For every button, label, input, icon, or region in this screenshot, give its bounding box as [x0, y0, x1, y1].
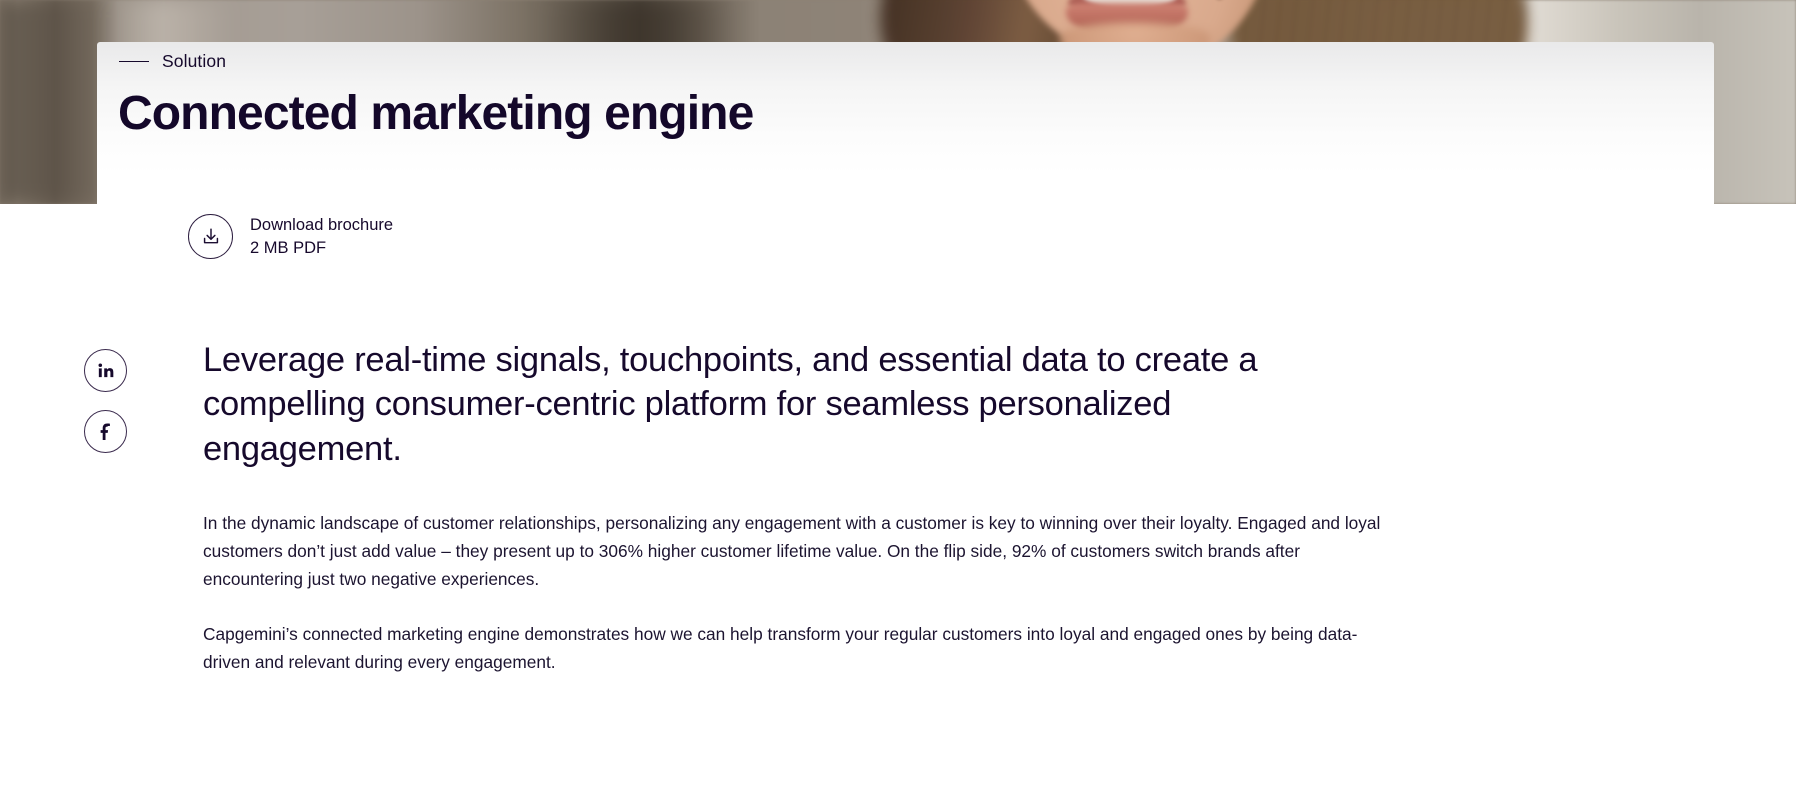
download-meta: 2 MB PDF: [250, 239, 393, 257]
eyebrow-dash-icon: [119, 61, 149, 63]
download-text-group: Download brochure 2 MB PDF: [250, 216, 393, 256]
lead-statement: Leverage real-time signals, touchpoints,…: [203, 338, 1378, 471]
download-icon[interactable]: [188, 214, 233, 259]
body-paragraph-1: In the dynamic landscape of customer rel…: [203, 509, 1383, 593]
main-content-column: Leverage real-time signals, touchpoints,…: [203, 338, 1383, 676]
social-share-rail: [84, 349, 127, 453]
facebook-icon: [97, 423, 114, 440]
download-title: Download brochure: [250, 216, 393, 234]
eyebrow-label: Solution: [162, 51, 226, 72]
page-title: Connected marketing engine: [118, 86, 753, 141]
page-root: Solution Connected marketing engine Down…: [0, 0, 1796, 811]
eyebrow: Solution: [119, 51, 226, 72]
linkedin-share-button[interactable]: [84, 349, 127, 392]
body-paragraph-2: Capgemini’s connected marketing engine d…: [203, 620, 1363, 676]
linkedin-icon: [97, 362, 114, 379]
facebook-share-button[interactable]: [84, 410, 127, 453]
download-brochure-link[interactable]: Download brochure 2 MB PDF: [188, 214, 393, 259]
